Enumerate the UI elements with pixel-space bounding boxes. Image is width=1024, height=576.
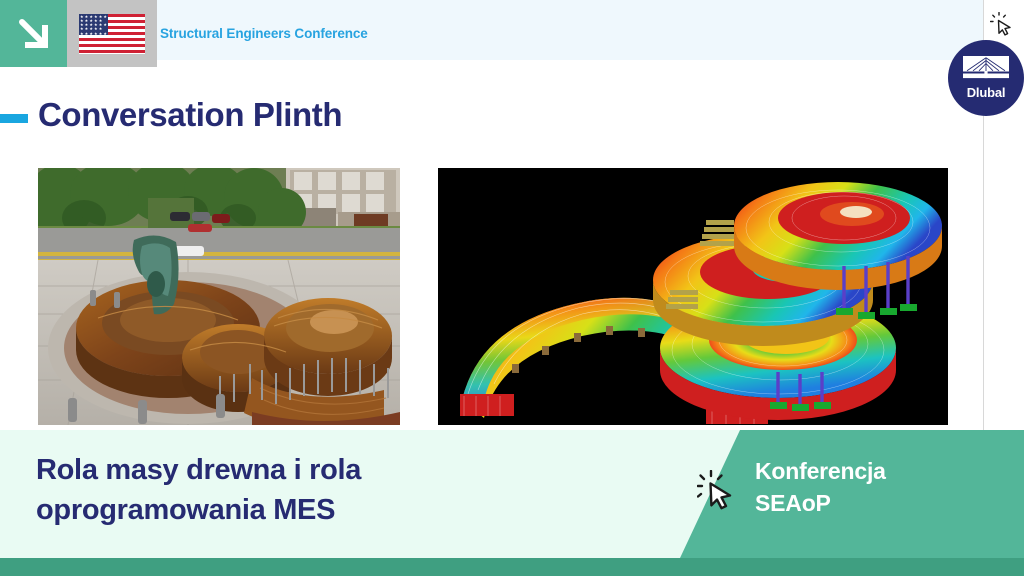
click-cursor-icon	[990, 12, 1016, 38]
conversation-plinth-photo	[38, 168, 400, 425]
fea-artwork	[438, 168, 948, 425]
header-title: Structural Engineers Conference	[160, 26, 368, 41]
arrow-down-right-glyph	[14, 14, 53, 53]
presentation-slide: Structural Engineers Conference ★★★★★★★★…	[0, 0, 1024, 576]
footer-heading: Rola masy drewna i rola oprogramowania M…	[36, 450, 636, 530]
page-title: Conversation Plinth	[38, 96, 342, 134]
conference-label-line1: Konferencja	[755, 456, 886, 488]
footer-heading-line2: oprogramowania MES	[36, 490, 636, 530]
dlubal-logo[interactable]: Dlubal	[948, 40, 1024, 116]
dlubal-logo-text: Dlubal	[967, 85, 1006, 100]
flag-stars: ★★★★★★★★★★★★★★★★★★★★★★★★★★★★	[79, 14, 108, 36]
conference-label: Konferencja SEAoP	[755, 456, 886, 519]
conference-label-line2: SEAoP	[755, 488, 886, 520]
us-flag-icon: ★★★★★★★★★★★★★★★★★★★★★★★★★★★★	[67, 0, 157, 67]
footer-strip	[0, 558, 1024, 576]
click-cursor-icon	[697, 470, 739, 512]
photo-artwork	[38, 168, 400, 425]
us-flag-graphic: ★★★★★★★★★★★★★★★★★★★★★★★★★★★★	[79, 14, 145, 54]
fea-stress-contour-render	[438, 168, 948, 425]
dlubal-bridge-icon	[963, 56, 1009, 83]
title-accent-dash	[0, 114, 28, 123]
footer-heading-line1: Rola masy drewna i rola	[36, 450, 636, 490]
arrow-down-right-icon	[0, 0, 67, 67]
